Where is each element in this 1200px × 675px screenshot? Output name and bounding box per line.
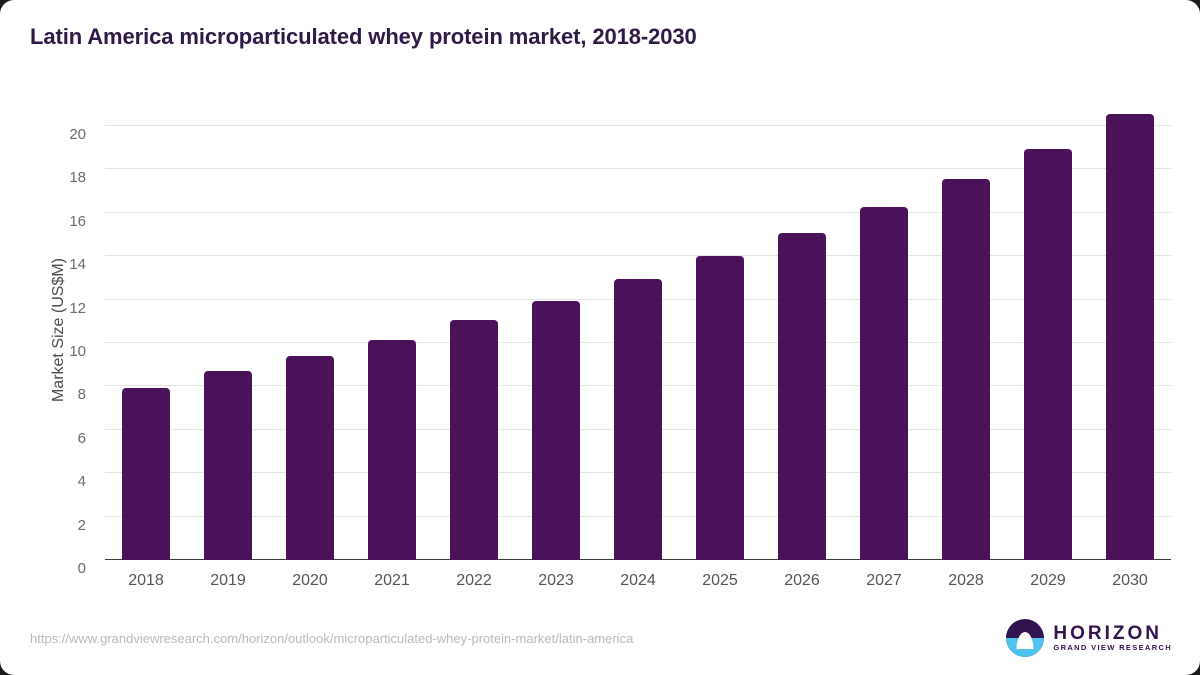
- chart-plot-area: Market Size (US$M) 02468101214161820 201…: [105, 100, 1171, 560]
- x-axis-tick-label: 2020: [292, 572, 328, 590]
- bar[interactable]: [286, 356, 334, 560]
- logo-wordmark: HORIZON: [1053, 624, 1172, 644]
- x-axis-tick-label: 2024: [620, 572, 656, 590]
- source-url[interactable]: https://www.grandviewresearch.com/horizo…: [30, 631, 633, 646]
- x-axis-tick-label: 2023: [538, 572, 574, 590]
- bar[interactable]: [368, 340, 416, 560]
- x-axis-tick-label: 2027: [866, 572, 902, 590]
- bar[interactable]: [1106, 114, 1154, 560]
- horizon-logo: HORIZON GRAND VIEW RESEARCH: [1006, 618, 1172, 658]
- x-axis-tick-label: 2022: [456, 572, 492, 590]
- logo-text: HORIZON GRAND VIEW RESEARCH: [1053, 624, 1172, 653]
- page-title: Latin America microparticulated whey pro…: [30, 24, 697, 50]
- bar[interactable]: [942, 179, 990, 560]
- x-axis-tick-label: 2025: [702, 572, 738, 590]
- bar[interactable]: [614, 279, 662, 560]
- x-axis-tick-label: 2030: [1112, 572, 1148, 590]
- bar[interactable]: [860, 207, 908, 560]
- bars-layer: 2018201920202021202220232024202520262027…: [105, 100, 1171, 560]
- y-axis-label: Market Size (US$M): [50, 258, 68, 402]
- bar[interactable]: [122, 388, 170, 561]
- x-axis-tick-label: 2019: [210, 572, 246, 590]
- x-axis-tick-label: 2028: [948, 572, 984, 590]
- chart-card: Latin America microparticulated whey pro…: [0, 0, 1200, 675]
- bar[interactable]: [1024, 149, 1072, 560]
- bar[interactable]: [696, 256, 744, 560]
- bar[interactable]: [532, 301, 580, 560]
- x-axis-tick-label: 2026: [784, 572, 820, 590]
- logo-subtitle: GRAND VIEW RESEARCH: [1053, 643, 1172, 652]
- bar[interactable]: [450, 320, 498, 560]
- bar[interactable]: [204, 371, 252, 560]
- x-axis-tick-label: 2021: [374, 572, 410, 590]
- horizon-sun-icon: [1006, 619, 1044, 657]
- x-axis-tick-label: 2029: [1030, 572, 1066, 590]
- x-axis-tick-label: 2018: [128, 572, 164, 590]
- bar[interactable]: [778, 233, 826, 560]
